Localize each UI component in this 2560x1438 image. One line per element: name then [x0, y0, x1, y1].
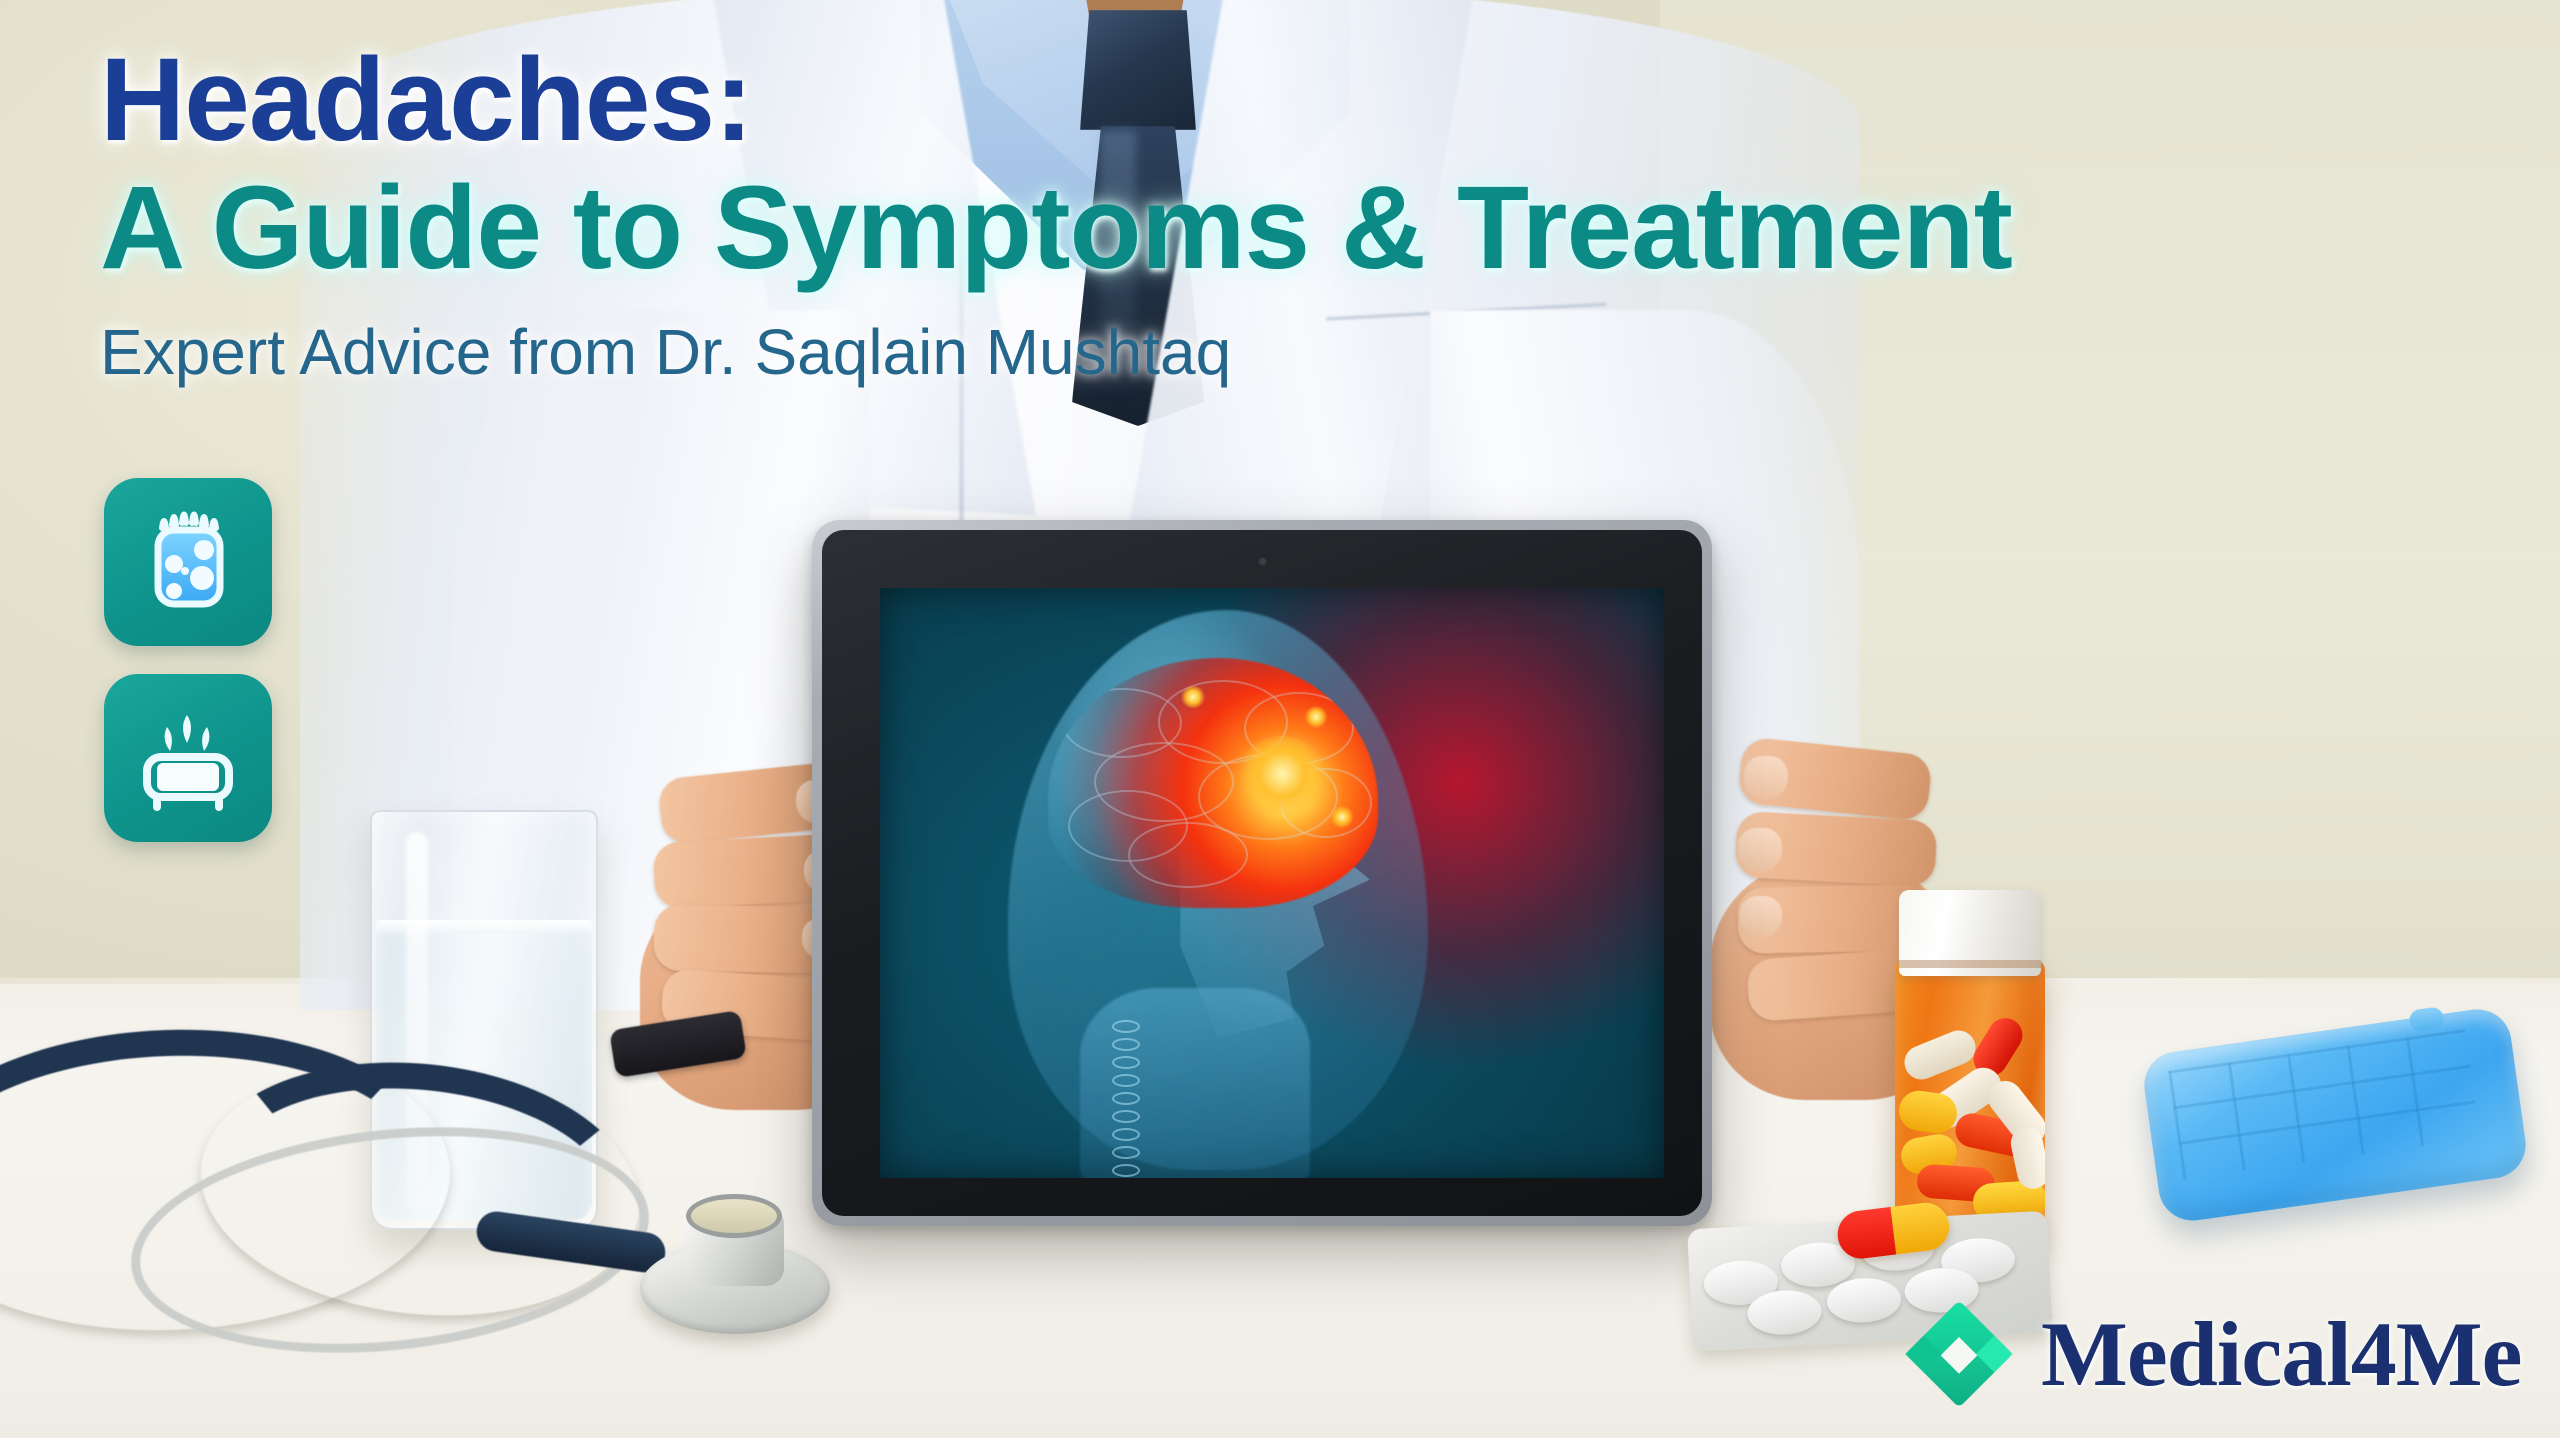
heating-pad-icon — [133, 705, 243, 811]
pain-glow-spark-3 — [1330, 806, 1354, 828]
tablet-camera-icon — [1257, 556, 1268, 567]
page-title-line-2: A Guide to Symptoms & Treatment — [100, 166, 2400, 291]
banner-image: Headaches: A Guide to Symptoms & Treatme… — [0, 0, 2560, 1438]
tablet-device[interactable] — [812, 520, 1712, 1226]
cold-pack-icon — [136, 506, 240, 618]
diamond-logo-icon — [1905, 1300, 2013, 1408]
treatment-badges — [104, 478, 272, 842]
pain-glow-core — [1236, 736, 1328, 812]
pill-bottle-seal — [1899, 960, 2041, 968]
tablet-screen — [880, 588, 1664, 1178]
pain-glow-spark-2 — [1304, 706, 1328, 728]
headline-block: Headaches: A Guide to Symptoms & Treatme… — [100, 40, 2400, 388]
pain-glow-spark-1 — [1180, 686, 1206, 708]
brand-logo[interactable]: Medical4Me — [1905, 1300, 2521, 1408]
badge-cold-pack[interactable] — [104, 478, 272, 646]
badge-heating-pad[interactable] — [104, 674, 272, 842]
xray-spine — [1112, 1020, 1142, 1178]
brand-wordmark: Medical4Me — [2041, 1308, 2521, 1400]
pill-bottle — [1895, 890, 2045, 1235]
tablet-bezel — [822, 530, 1702, 1216]
stethoscope-chestpiece — [640, 1206, 830, 1332]
page-title-line-1: Headaches: — [100, 40, 2400, 160]
page-subtitle: Expert Advice from Dr. Saqlain Mushtaq — [100, 317, 2400, 387]
pill-bottle-body — [1895, 960, 2045, 1235]
